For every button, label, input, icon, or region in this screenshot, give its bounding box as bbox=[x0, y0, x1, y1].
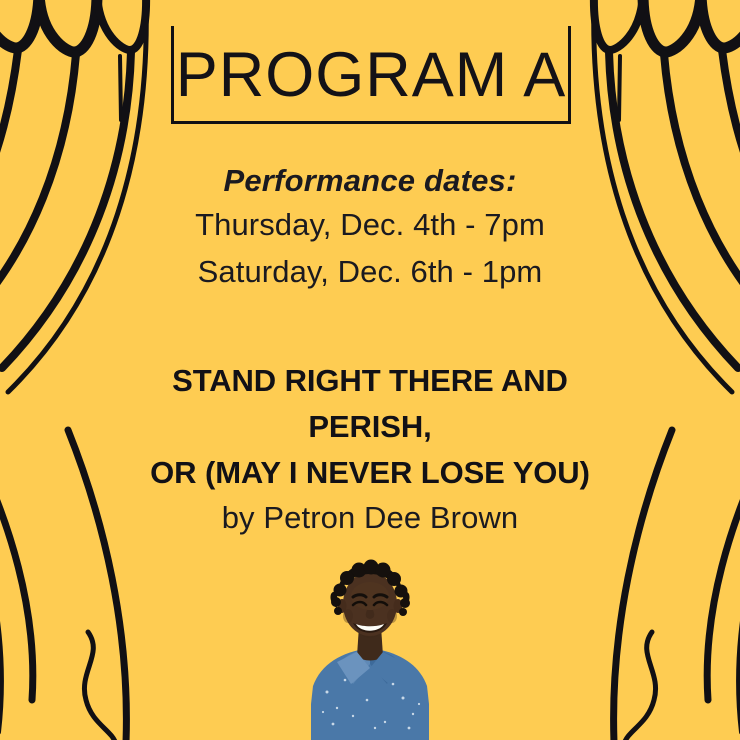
program-poster: PROGRAM A Performance dates: Thursday, D… bbox=[0, 0, 740, 740]
program-title: PROGRAM A bbox=[171, 26, 571, 124]
play-title-line: STAND RIGHT THERE AND bbox=[0, 358, 740, 404]
performance-dates-block: Performance dates: Thursday, Dec. 4th - … bbox=[0, 162, 740, 295]
performance-date-line: Saturday, Dec. 6th - 1pm bbox=[0, 248, 740, 295]
playwright-byline: by Petron Dee Brown bbox=[0, 500, 740, 536]
playwright-portrait bbox=[311, 552, 429, 740]
play-title-line: PERISH, bbox=[0, 404, 740, 450]
performance-dates-heading: Performance dates: bbox=[0, 162, 740, 201]
play-title-line: OR (MAY I NEVER LOSE YOU) bbox=[0, 450, 740, 496]
play-title-block: STAND RIGHT THERE AND PERISH, OR (MAY I … bbox=[0, 358, 740, 496]
performance-date-line: Thursday, Dec. 4th - 7pm bbox=[0, 201, 740, 248]
